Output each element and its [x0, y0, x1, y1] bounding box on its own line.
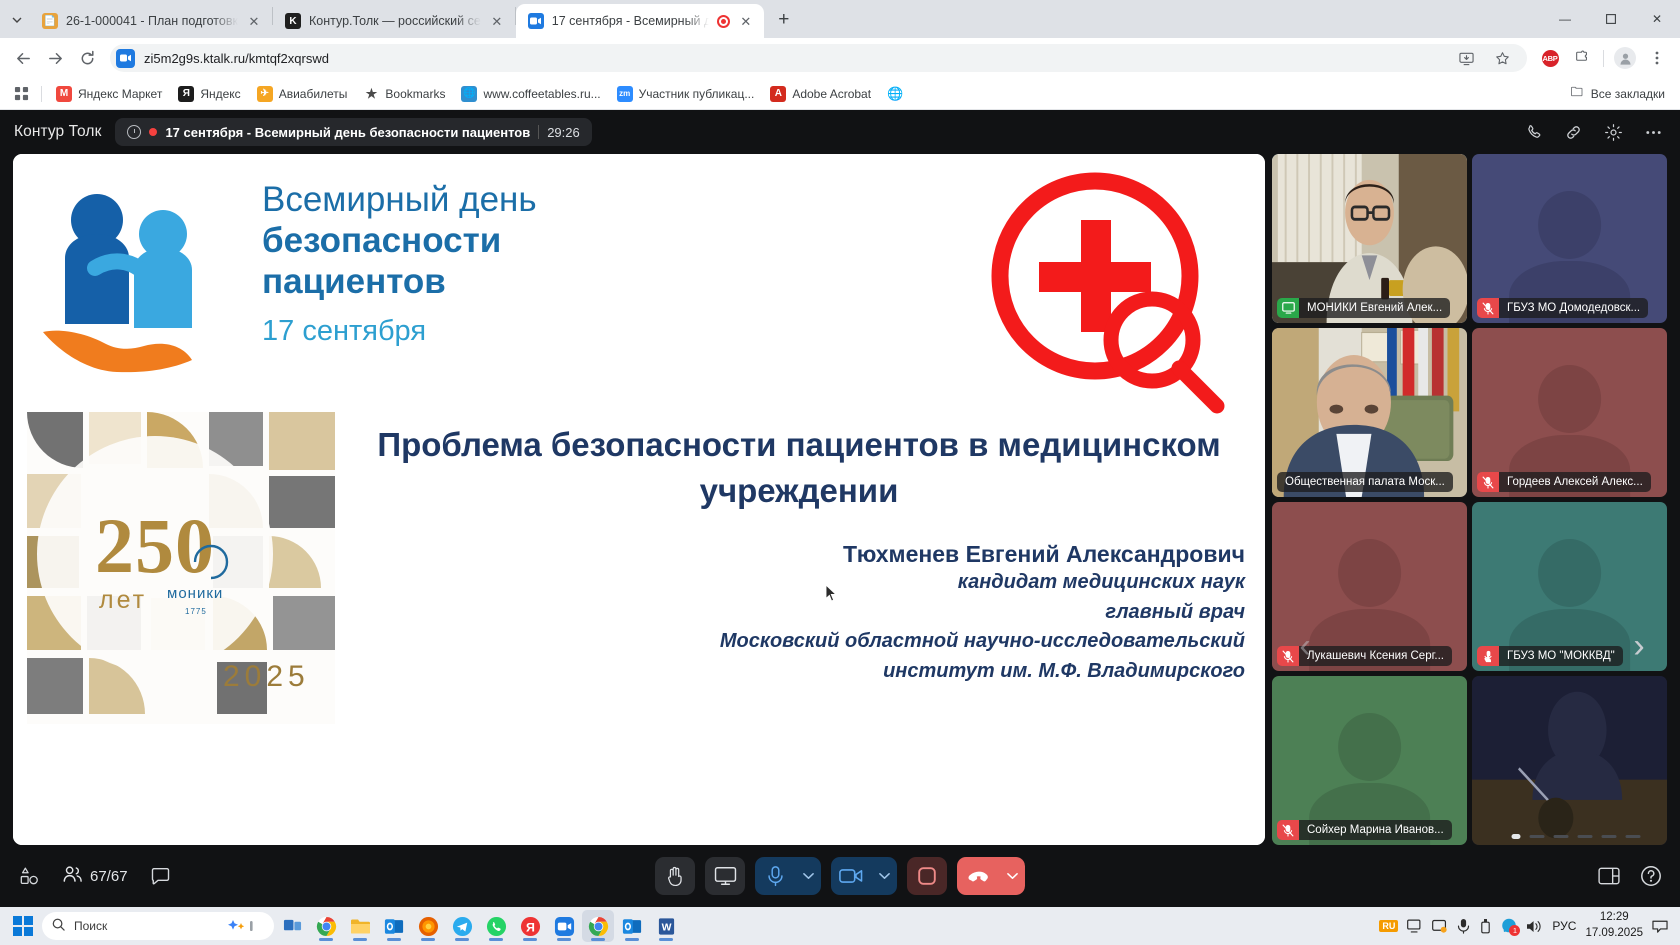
prev-page-button[interactable]: ‹ [1288, 620, 1322, 672]
bookmark-item-5[interactable]: zm Участник публикац... [610, 83, 762, 105]
svg-text:250: 250 [95, 502, 215, 589]
bookmark-label: Яндекс [200, 87, 240, 101]
controls-right-group [1598, 865, 1662, 887]
clock-icon [127, 125, 141, 139]
microphone-button[interactable] [755, 857, 795, 895]
bookmark-item-6[interactable]: A Adobe Acrobat [763, 83, 878, 105]
bookmark-label: www.coffeetables.ru... [483, 87, 600, 101]
tab-title: 17 сентября - Всемирный д [552, 14, 709, 28]
meeting-controls-bar: 67/67 [0, 845, 1680, 907]
bookmark-item-7[interactable]: 🌐 [880, 83, 916, 105]
page-dot-0[interactable] [1512, 834, 1521, 839]
tab-strip: 📄 26-1-000041 - План подготовк ✕ K Конту… [0, 0, 1680, 38]
keyboard-layout-badge[interactable]: RU [1379, 920, 1398, 932]
bookmarks-divider [41, 86, 42, 102]
raise-hand-button[interactable] [655, 857, 695, 895]
hangup-button[interactable] [957, 857, 999, 895]
svg-text:моники: моники [167, 585, 223, 602]
firefox-app-button[interactable] [412, 910, 444, 942]
chip-divider [538, 125, 539, 139]
slide-author: Тюхменев Евгений Александрович [353, 541, 1245, 568]
avatar [1614, 47, 1636, 69]
all-bookmarks-label: Все закладки [1591, 87, 1665, 101]
forward-icon[interactable] [40, 43, 70, 73]
outlook2-app-button[interactable] [616, 910, 648, 942]
participant-tile-3[interactable]: Гордеев Алексей Алекс... [1472, 328, 1667, 497]
explorer-app-button[interactable] [344, 910, 376, 942]
outlook-app-button[interactable] [378, 910, 410, 942]
participant-name: ГБУЗ МО "МОККВД" [1499, 646, 1623, 666]
participant-name-bar: ГБУЗ МО "МОККВД" [1477, 646, 1623, 666]
mic-muted-icon [1277, 820, 1299, 840]
yandex-market-icon: М [56, 86, 72, 102]
participant-tile-7[interactable] [1472, 676, 1667, 845]
svg-text:1775: 1775 [185, 607, 207, 616]
participant-name: Гордеев Алексей Алекс... [1499, 472, 1651, 492]
star-icon: ★ [363, 86, 379, 102]
presentation-slide: Всемирный день безопасности пациентов 17… [13, 154, 1265, 845]
shared-screen-area[interactable]: Всемирный день безопасности пациентов 17… [13, 154, 1265, 845]
new-tab-button[interactable]: + [770, 6, 798, 34]
globe-icon: 🌐 [887, 86, 903, 102]
copilot-icon[interactable] [224, 918, 266, 934]
magnifier-cross-icon [987, 168, 1227, 418]
search-placeholder: Поиск [74, 919, 107, 933]
reactions-icon[interactable] [18, 865, 40, 887]
mouse-cursor-icon [825, 584, 838, 602]
close-icon[interactable]: ✕ [246, 13, 262, 29]
bookmark-label: Bookmarks [385, 87, 445, 101]
page-dot-5[interactable] [1626, 835, 1641, 838]
usb-icon[interactable] [1479, 918, 1492, 934]
clock-time: 12:29 [1585, 910, 1643, 926]
help-icon[interactable] [1640, 865, 1662, 887]
zoom-icon: zm [617, 86, 633, 102]
yandex-icon: Я [178, 86, 194, 102]
close-icon[interactable]: ✕ [489, 13, 505, 29]
people-icon [62, 864, 83, 889]
participant-name: Сойхер Марина Иванов... [1299, 820, 1452, 840]
folder-icon: 🗀 [1569, 86, 1585, 102]
bookmark-star-icon[interactable] [1487, 47, 1517, 69]
aviasales-icon: ✈ [257, 86, 273, 102]
badge-count: 1 [1509, 925, 1520, 936]
screenshot-icon[interactable] [1432, 919, 1448, 934]
participant-name-bar: Сойхер Марина Иванов... [1277, 820, 1452, 840]
bookmark-item-2[interactable]: ✈ Авиабилеты [250, 83, 355, 105]
kontur-icon: K [285, 13, 301, 29]
yandex-app-button[interactable]: Я [514, 910, 546, 942]
tab-title: Контур.Толк — российский се [309, 14, 481, 28]
svg-text:лет: лет [99, 586, 147, 614]
microphone-options-chevron-down-icon[interactable] [795, 857, 821, 895]
bookmark-label: Яндекс Маркет [78, 87, 162, 101]
participant-count-label: 67/67 [90, 868, 128, 885]
toolbar-divider [1603, 50, 1604, 67]
camera-control-group [831, 857, 897, 895]
share-screen-button[interactable] [705, 857, 745, 895]
chrome-active-app-button[interactable] [582, 910, 614, 942]
page-dot-3[interactable] [1578, 835, 1593, 838]
browser-toolbar: zi5m2g9s.ktalk.ru/kmtqf2xqrswd ABP [0, 38, 1680, 78]
video-feed [1472, 676, 1667, 845]
participant-name-bar: Гордеев Алексей Алекс... [1477, 472, 1651, 492]
chrome-app-button[interactable] [310, 910, 342, 942]
chat-badge-icon[interactable]: 1 [1501, 918, 1517, 934]
reload-icon[interactable] [72, 43, 102, 73]
apps-grid-icon[interactable] [8, 81, 34, 107]
link-icon[interactable] [1560, 119, 1586, 145]
bookmark-item-0[interactable]: М Яндекс Маркет [49, 83, 169, 105]
maximize-button[interactable] [1588, 2, 1634, 36]
telegram-app-button[interactable] [446, 910, 478, 942]
slide-subtitle-line-2: Московский областной научно-исследовател… [353, 627, 1245, 657]
participant-name-bar: Общественная палата Моск... [1277, 472, 1453, 492]
svg-text:2025: 2025 [223, 660, 310, 693]
window-controls: — ✕ [1542, 0, 1680, 38]
clock-date: 17.09.2025 [1585, 926, 1643, 942]
tab-recording-indicator-icon [717, 15, 730, 28]
windows-taskbar: Поиск Я [0, 907, 1680, 945]
meeting-stage: Всемирный день безопасности пациентов 17… [0, 154, 1680, 845]
participant-name-bar: МОНИКИ Евгений Алек... [1277, 298, 1450, 318]
bookmark-label: Участник публикац... [639, 87, 755, 101]
chat-icon[interactable] [150, 866, 171, 887]
participant-name-bar: ГБУЗ МО Домодедовск... [1477, 298, 1648, 318]
search-icon [52, 918, 65, 934]
task-view-button[interactable] [276, 910, 308, 942]
taskbar-search-input[interactable]: Поиск [42, 912, 274, 940]
slide-text-block: Проблема безопасности пациентов в медици… [335, 412, 1245, 724]
participants-rail: МОНИКИ Евгений Алек... [1272, 154, 1680, 845]
tab-title: 26-1-000041 - План подготовк [66, 14, 238, 28]
screen-share-icon [1277, 298, 1299, 318]
install-icon[interactable] [1451, 47, 1481, 69]
layout-icon[interactable] [1598, 866, 1620, 886]
bookmark-item-1[interactable]: Я Яндекс [171, 83, 247, 105]
taskbar-clock[interactable]: 12:29 17.09.2025 [1585, 910, 1643, 941]
minimize-button[interactable]: — [1542, 2, 1588, 36]
patient-safety-logo-icon [35, 172, 240, 402]
participant-tiles-grid: МОНИКИ Евгений Алек... [1272, 154, 1667, 845]
tab-0[interactable]: 📄 26-1-000041 - План подготовк ✕ [30, 4, 272, 38]
participant-tile-2[interactable]: Общественная палата Моск... [1272, 328, 1467, 497]
extensions-icon[interactable] [1567, 43, 1597, 73]
bookmarks-bar: М Яндекс Маркет Я Яндекс ✈ Авиабилеты ★ … [0, 78, 1680, 110]
record-button[interactable] [907, 857, 947, 895]
display-icon[interactable] [1407, 919, 1423, 934]
participant-name: МОНИКИ Евгений Алек... [1299, 298, 1450, 318]
acrobat-icon: A [770, 86, 786, 102]
all-bookmarks-button[interactable]: 🗀 Все закладки [1562, 83, 1672, 105]
page-dot-2[interactable] [1554, 835, 1569, 838]
bookmark-item-4[interactable]: 🌐 www.coffeetables.ru... [454, 83, 607, 105]
pagination-dots [1512, 834, 1641, 839]
participant-name: Общественная палата Моск... [1277, 472, 1453, 492]
bookmark-item-3[interactable]: ★ Bookmarks [356, 83, 452, 105]
bookmark-label: Adobe Acrobat [792, 87, 871, 101]
slide-subtitle-line-1: главный врач [353, 598, 1245, 628]
address-bar[interactable]: zi5m2g9s.ktalk.ru/kmtqf2xqrswd [110, 44, 1527, 72]
app-header: Контур Толк 17 сентября - Всемирный день… [0, 110, 1680, 154]
bookmark-label: Авиабилеты [279, 87, 348, 101]
slide-subtitle-line-0: кандидат медицинских наук [353, 568, 1245, 598]
volume-icon[interactable] [1526, 919, 1543, 934]
profile-icon[interactable] [1610, 43, 1640, 73]
camera-icon [528, 13, 544, 29]
header-actions [1520, 119, 1666, 145]
close-icon[interactable]: ✕ [738, 13, 754, 29]
mic-icon[interactable] [1457, 918, 1470, 934]
slide-header-line3: пациентов [262, 262, 537, 303]
adblock-label: ABP [1542, 50, 1559, 67]
site-camera-icon [116, 49, 135, 68]
tab-search-icon[interactable] [4, 5, 30, 35]
adblock-icon[interactable]: ABP [1535, 43, 1565, 73]
gear-icon[interactable] [1600, 119, 1626, 145]
phone-icon[interactable] [1520, 119, 1546, 145]
language-indicator[interactable]: РУС [1552, 919, 1576, 933]
hangup-control-group [957, 857, 1025, 895]
page-dot-1[interactable] [1530, 835, 1545, 838]
participant-counter[interactable]: 67/67 [62, 864, 128, 889]
browser-window: 📄 26-1-000041 - План подготовк ✕ K Конту… [0, 0, 1680, 945]
participant-tile-1[interactable]: ГБУЗ МО Домодедовск... [1472, 154, 1667, 323]
url-text: zi5m2g9s.ktalk.ru/kmtqf2xqrswd [144, 51, 1442, 66]
whatsapp-app-button[interactable] [480, 910, 512, 942]
slide-header-line2: безопасности [262, 221, 537, 262]
camera-options-chevron-down-icon[interactable] [871, 857, 897, 895]
participant-tile-0[interactable]: МОНИКИ Евгений Алек... [1272, 154, 1467, 323]
app-brand: Контур Толк [14, 123, 101, 141]
anniversary-250-logo: 250 лет моники 1775 2025 [27, 412, 335, 724]
start-button[interactable] [6, 909, 40, 943]
slide-subtitle-line-3: институт им. М.Ф. Владимирского [353, 657, 1245, 687]
controls-left-group: 67/67 [18, 864, 171, 889]
slide-title: Проблема безопасности пациентов в медици… [353, 422, 1245, 513]
more-icon[interactable] [1640, 119, 1666, 145]
meeting-elapsed-time: 29:26 [547, 125, 580, 140]
participant-name: ГБУЗ МО Домодедовск... [1499, 298, 1648, 318]
camera-button[interactable] [831, 857, 871, 895]
hangup-options-chevron-down-icon[interactable] [999, 857, 1025, 895]
controls-center-group [655, 857, 1025, 895]
menu-icon[interactable] [1642, 43, 1672, 73]
tab-2[interactable]: 17 сентября - Всемирный д ✕ [516, 4, 764, 38]
slide-header-text: Всемирный день безопасности пациентов 17… [240, 172, 537, 402]
tab-1[interactable]: K Контур.Толк — российский се ✕ [273, 4, 515, 38]
recording-indicator-icon [149, 128, 157, 136]
sheets-icon: 📄 [42, 13, 58, 29]
slide-header-line1: Всемирный день [262, 180, 537, 221]
meeting-info-chip[interactable]: 17 сентября - Всемирный день безопасност… [115, 118, 591, 146]
participant-tile-6[interactable]: Сойхер Марина Иванов... [1272, 676, 1467, 845]
slide-header-date: 17 сентября [262, 303, 537, 354]
svg-text:W: W [661, 922, 671, 933]
kontur-talk-app: Контур Толк 17 сентября - Всемирный день… [0, 110, 1680, 907]
system-tray: RU 1 РУС 12:29 17.09.2025 [1379, 910, 1674, 941]
word-app-button[interactable]: W [650, 910, 682, 942]
mic-muted-icon [1477, 298, 1499, 318]
mic-muted-icon [1477, 472, 1499, 492]
meeting-title: 17 сентября - Всемирный день безопасност… [165, 125, 530, 140]
microphone-control-group [755, 857, 821, 895]
ktalk-app-button[interactable] [548, 910, 580, 942]
page-dot-4[interactable] [1602, 835, 1617, 838]
globe-icon: 🌐 [461, 86, 477, 102]
svg-text:Я: Я [526, 920, 535, 934]
notification-icon[interactable] [1652, 919, 1668, 934]
next-page-button[interactable]: › [1622, 620, 1656, 672]
back-icon[interactable] [8, 43, 38, 73]
hand-raised-icon [1477, 646, 1499, 666]
close-window-button[interactable]: ✕ [1634, 2, 1680, 36]
